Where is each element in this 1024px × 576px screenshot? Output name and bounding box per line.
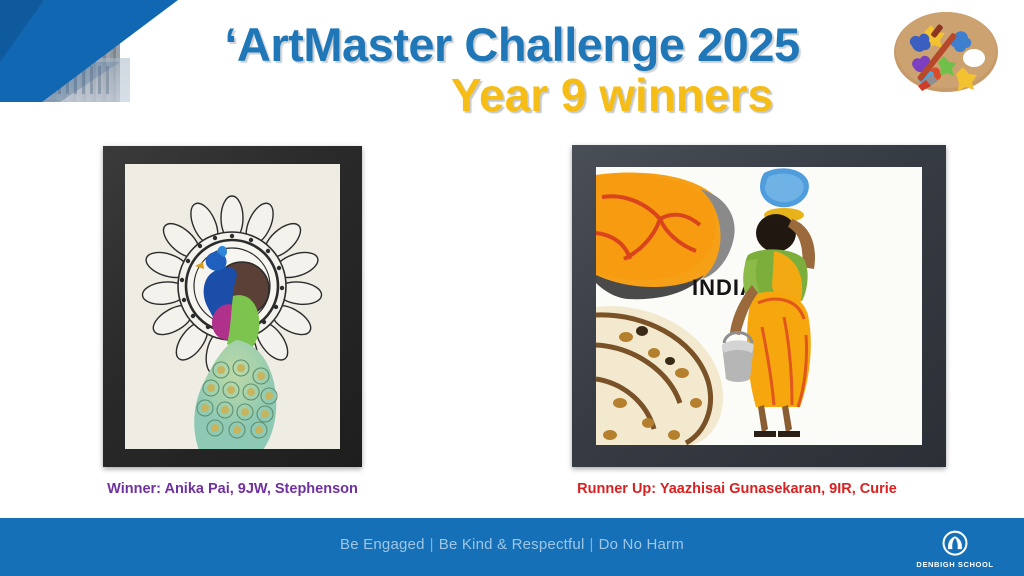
page-subtitle: Year 9 winners <box>0 71 1024 119</box>
artwork-2-image: INDIA <box>596 167 922 445</box>
value-be-engaged: Be Engaged <box>340 536 425 553</box>
artwork-1-frame <box>103 146 362 467</box>
artwork-2-caption: Runner Up: Yaazhisai Gunasekaran, 9IR, C… <box>537 481 937 497</box>
title-block: ‘ArtMaster Challenge 2025 Year 9 winners <box>0 20 1024 120</box>
value-separator-2: | <box>589 536 593 553</box>
page-title: ‘ArtMaster Challenge 2025 <box>0 20 1024 69</box>
artwork-2-frame: INDIA <box>572 145 946 467</box>
artwork-1-caption: Winner: Anika Pai, 9JW, Stephenson <box>76 481 389 497</box>
logo-text: DENBIGH SCHOOL <box>916 560 993 569</box>
value-do-no-harm: Do No Harm <box>599 536 684 553</box>
value-separator-1: | <box>430 536 434 553</box>
school-values: Be Engaged|Be Kind & Respectful|Do No Ha… <box>0 536 1024 553</box>
denbigh-emblem-icon <box>938 530 972 558</box>
footer-bar: Be Engaged|Be Kind & Respectful|Do No Ha… <box>0 518 1024 576</box>
artwork-1[interactable] <box>103 146 362 467</box>
value-be-kind: Be Kind & Respectful <box>439 536 585 553</box>
artwork-2[interactable]: INDIA <box>572 145 946 467</box>
denbigh-school-logo: DENBIGH SCHOOL <box>912 524 998 574</box>
artwork-1-image <box>125 164 340 449</box>
presentation-slide: ‘ArtMaster Challenge 2025 Year 9 winners <box>0 0 1024 576</box>
